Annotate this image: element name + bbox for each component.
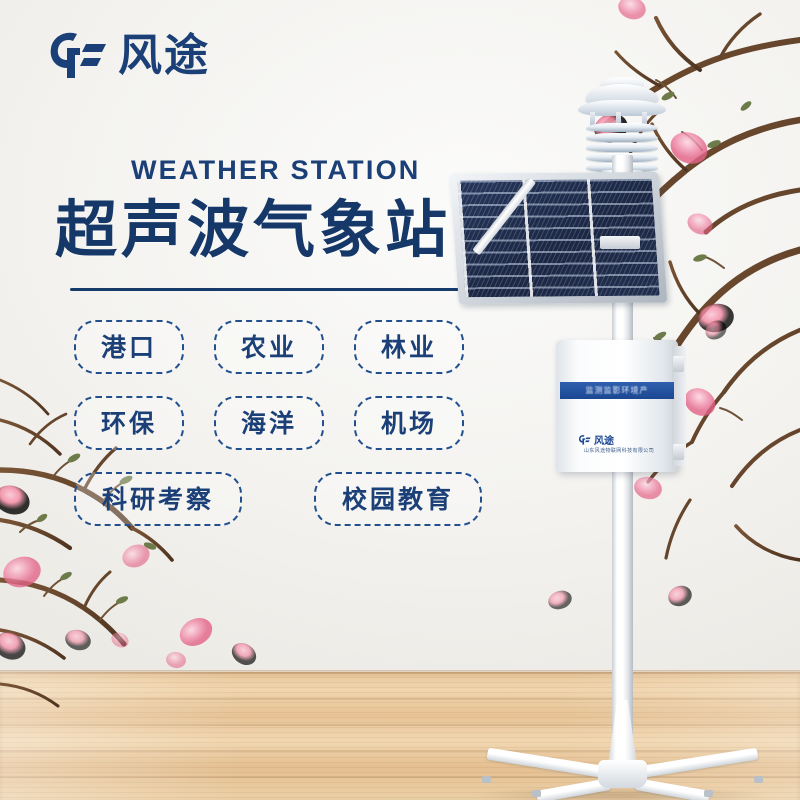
fengtu-cloud-g-logo-icon — [46, 28, 108, 84]
brand-name: 风途 — [118, 34, 210, 78]
control-box-hinge — [673, 444, 684, 460]
pole-bracket — [600, 236, 640, 249]
tag-ocean[interactable]: 海洋 — [214, 396, 324, 450]
radiation-shield-ring — [586, 143, 658, 152]
base-foot — [532, 790, 541, 797]
tag-row: 港口 农业 林业 — [74, 320, 494, 374]
eyebrow-text: WEATHER STATION — [131, 155, 420, 186]
tag-environment[interactable]: 环保 — [74, 396, 184, 450]
base-foot — [704, 790, 713, 797]
base-hub — [598, 760, 647, 788]
tag-port[interactable]: 港口 — [74, 320, 184, 374]
tag-row: 环保 海洋 机场 — [74, 396, 494, 450]
fengtu-logo-small-icon — [578, 434, 591, 446]
base-leg — [640, 748, 758, 778]
control-box-logo-text: 风途 — [594, 432, 614, 447]
tag-row: 科研考察 校园教育 — [74, 472, 494, 526]
base-shadow — [470, 786, 770, 800]
radiation-shield-ring — [586, 123, 658, 132]
radiation-shield-ring — [586, 133, 658, 142]
page-title: 超声波气象站 — [55, 196, 451, 264]
solar-panel — [447, 153, 700, 352]
control-box-company-text: 山东风途物联网科技有限公司 — [573, 447, 665, 454]
tag-agriculture[interactable]: 农业 — [214, 320, 324, 374]
control-box-band-text: 监测监影环境产 — [586, 385, 649, 396]
application-tag-list: 港口 农业 林业 环保 海洋 机场 科研考察 校园教育 — [74, 320, 494, 548]
base-foot — [482, 776, 491, 783]
base-foot — [754, 776, 763, 783]
control-box-hinge — [673, 356, 684, 372]
tag-research-survey[interactable]: 科研考察 — [74, 472, 242, 526]
base-leg — [487, 748, 605, 778]
product-banner: 风途 WEATHER STATION 超声波气象站 港口 农业 林业 环保 海洋… — [0, 0, 800, 800]
title-underline — [70, 288, 476, 291]
control-box-logo: 风途 — [578, 432, 658, 447]
brand-logo: 风途 — [46, 28, 210, 84]
ultrasonic-weather-station: 监测监影环境产 风途 山东风途物联网科技有限公司 — [440, 60, 770, 800]
control-box-label-band: 监测监影环境产 — [560, 382, 674, 399]
